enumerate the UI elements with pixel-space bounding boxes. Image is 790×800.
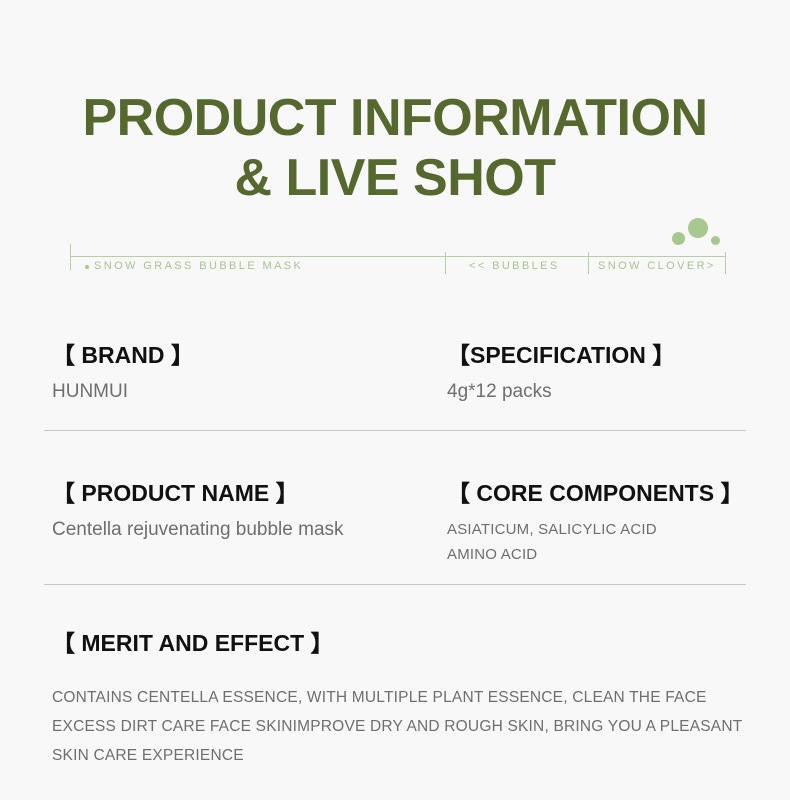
field-brand-label: 【 BRAND 】 (52, 340, 442, 370)
field-specification: 【SPECIFICATION 】 4g*12 packs (447, 340, 747, 405)
product-information-page: PRODUCT INFORMATION & LIVE SHOT SNOW GRA… (0, 0, 790, 800)
divider-label-product: SNOW GRASS BUBBLE MASK (94, 260, 303, 272)
field-core-components: 【 CORE COMPONENTS 】 ASIATICUM, SALICYLIC… (447, 478, 747, 567)
page-title-line-2: & LIVE SHOT (0, 148, 790, 208)
divider-tick-start (70, 244, 71, 270)
field-core-components-value-line-1: ASIATICUM, SALICYLIC ACID (447, 517, 747, 542)
bubble-large-icon (688, 218, 708, 238)
bubble-medium-icon (672, 232, 685, 245)
bubble-small-icon (711, 236, 720, 245)
field-merit: 【 MERIT AND EFFECT 】 (52, 628, 752, 658)
field-product-name: 【 PRODUCT NAME 】 Centella rejuvenating b… (52, 478, 442, 543)
decorative-divider-bar (70, 256, 726, 257)
divider-label-snow-clover: SNOW CLOVER> (598, 260, 716, 272)
field-merit-description: CONTAINS CENTELLA ESSENCE, WITH MULTIPLE… (52, 683, 752, 770)
field-core-components-value-line-2: AMINO ACID (447, 542, 747, 567)
field-specification-value: 4g*12 packs (447, 379, 747, 405)
divider-tick-second (445, 252, 446, 274)
field-core-components-label: 【 CORE COMPONENTS 】 (447, 478, 747, 508)
page-title-line-1: PRODUCT INFORMATION (0, 88, 790, 148)
section-divider-2 (44, 584, 746, 585)
divider-label-bubbles: << BUBBLES (469, 260, 560, 272)
divider-tick-end (725, 252, 726, 274)
field-brand: 【 BRAND 】 HUNMUI (52, 340, 442, 405)
field-brand-value: HUNMUI (52, 379, 442, 405)
field-product-name-label: 【 PRODUCT NAME 】 (52, 478, 442, 508)
field-merit-label: 【 MERIT AND EFFECT 】 (52, 628, 752, 658)
bullet-dot-icon (85, 265, 89, 269)
page-title: PRODUCT INFORMATION & LIVE SHOT (0, 88, 790, 208)
field-specification-label: 【SPECIFICATION 】 (447, 340, 747, 370)
field-product-name-value: Centella rejuvenating bubble mask (52, 517, 442, 543)
divider-tick-third (588, 252, 589, 274)
section-divider-1 (44, 430, 746, 431)
